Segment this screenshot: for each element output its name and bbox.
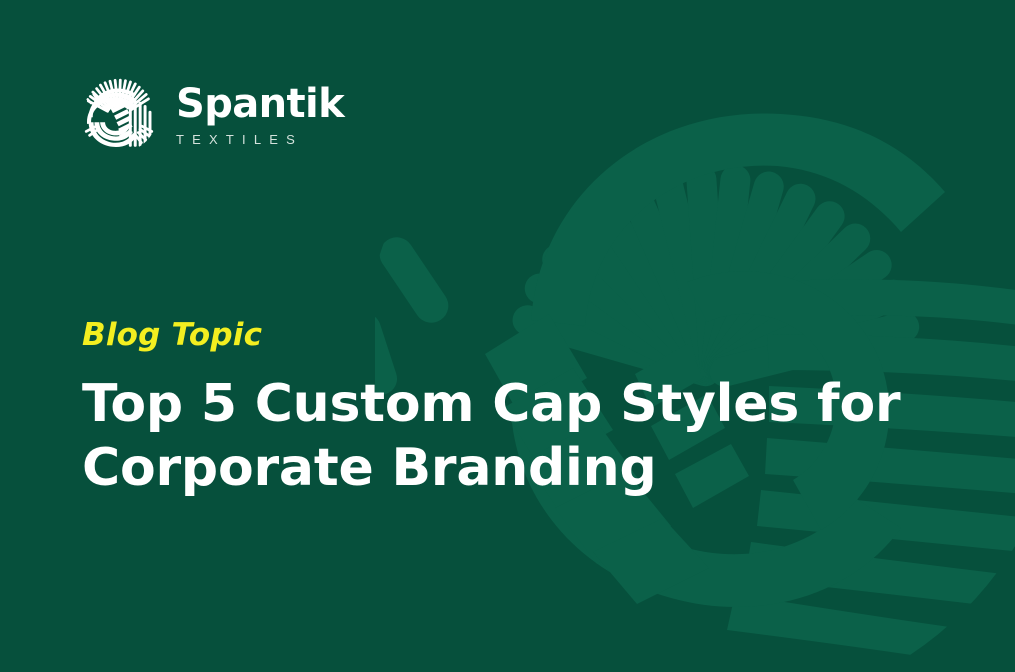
- brand-name: Spantik: [176, 84, 344, 124]
- page-title: Top 5 Custom Cap Styles for Corporate Br…: [82, 372, 902, 500]
- eyebrow-label: Blog Topic: [82, 318, 902, 352]
- brand-tagline: TEXTILES: [176, 133, 344, 146]
- headline-line: Top 5 Custom Cap Styles for: [82, 372, 902, 436]
- banner-content: Blog Topic Top 5 Custom Cap Styles for C…: [82, 318, 902, 500]
- yarn-ball-monogram-icon: [78, 72, 160, 156]
- blog-banner: Spantik TEXTILES Blog Topic Top 5 Custom…: [0, 0, 1015, 672]
- headline-line: Corporate Branding: [82, 436, 902, 500]
- brand-wordmark: Spantik TEXTILES: [176, 82, 344, 146]
- brand-logo-lockup: Spantik TEXTILES: [78, 72, 344, 156]
